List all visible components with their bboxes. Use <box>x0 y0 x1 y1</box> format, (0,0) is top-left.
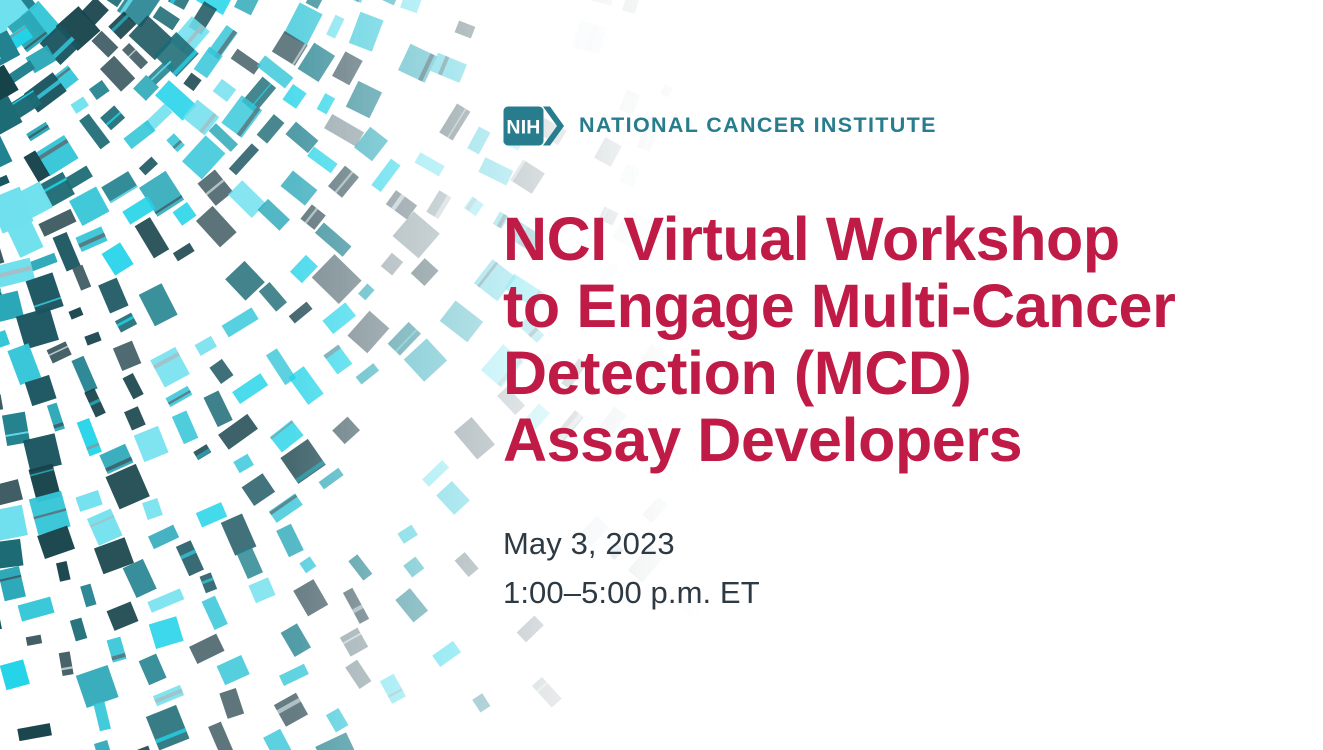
nih-chevron-logo-icon: NIH <box>503 106 565 146</box>
title-line-2: to Engage Multi-Cancer <box>503 273 1293 340</box>
event-details: May 3, 2023 1:00–5:00 p.m. ET <box>503 519 1003 617</box>
title-line-1: NCI Virtual Workshop <box>503 206 1293 273</box>
content-column: NIH NATIONAL CANCER INSTITUTE NCI Virtua… <box>503 0 1293 750</box>
page-title: NCI Virtual Workshop to Engage Multi-Can… <box>503 206 1293 474</box>
title-line-4: Assay Developers <box>503 407 1293 474</box>
slide-canvas: NIH NATIONAL CANCER INSTITUTE NCI Virtua… <box>0 0 1323 750</box>
title-line-3: Detection (MCD) <box>503 340 1293 407</box>
nci-wordmark: NATIONAL CANCER INSTITUTE <box>579 115 937 137</box>
event-date: May 3, 2023 <box>503 519 1003 568</box>
event-time: 1:00–5:00 p.m. ET <box>503 568 1003 617</box>
nci-logo-lockup: NIH NATIONAL CANCER INSTITUTE <box>503 106 937 146</box>
svg-text:NIH: NIH <box>506 117 540 139</box>
